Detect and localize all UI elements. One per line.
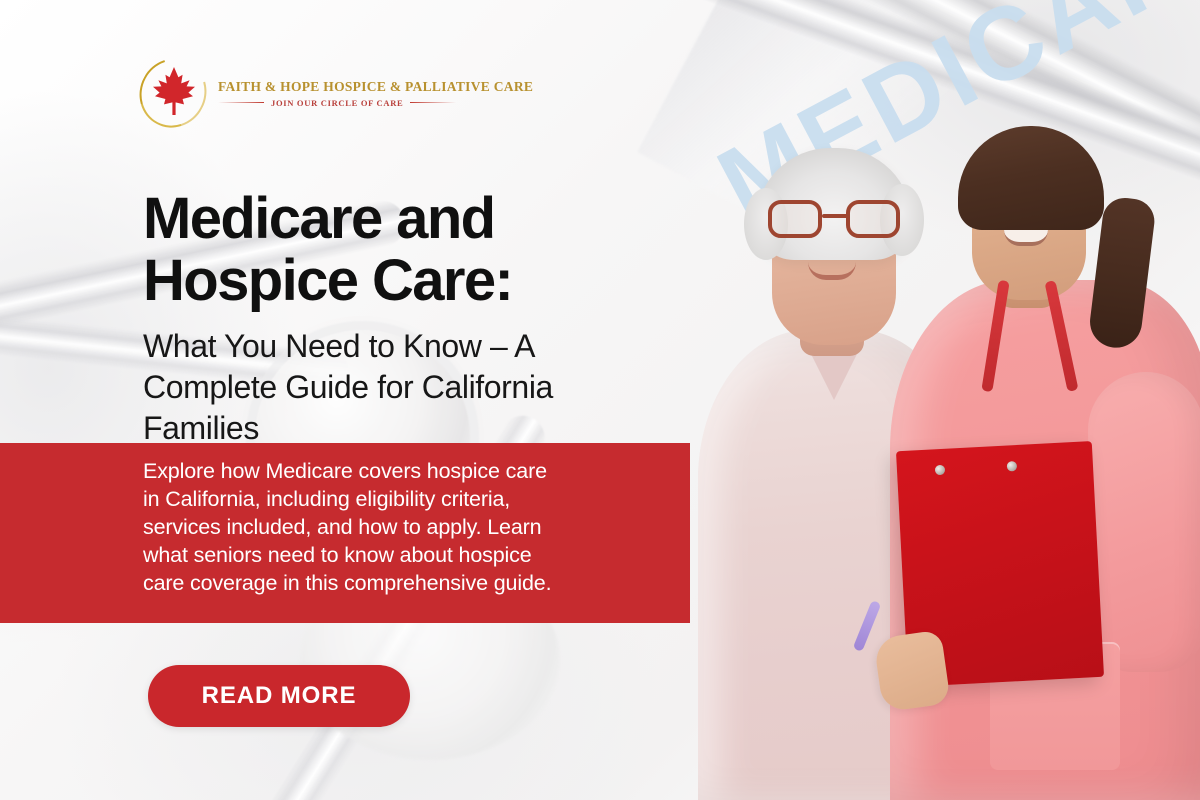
eyeglass-lens-left bbox=[768, 200, 822, 238]
logo-text-block: FAITH & HOPE HOSPICE & PALLIATIVE CARE J… bbox=[218, 79, 533, 108]
nurse-hand bbox=[873, 630, 951, 713]
brand-name: FAITH & HOPE HOSPICE & PALLIATIVE CARE bbox=[218, 79, 533, 95]
page-subtitle: What You Need to Know – A Complete Guide… bbox=[143, 326, 623, 449]
clipboard-rivet-left bbox=[935, 465, 946, 476]
maple-leaf-icon bbox=[152, 66, 196, 116]
page-title-line2: Hospice Care: bbox=[143, 248, 512, 313]
clipboard-rivet-right bbox=[1007, 461, 1018, 472]
people-photo-group bbox=[640, 140, 1200, 800]
nurse-sleeve bbox=[1088, 372, 1200, 672]
brand-tagline-row: JOIN OUR CIRCLE OF CARE bbox=[218, 98, 533, 108]
brand-logo[interactable]: FAITH & HOPE HOSPICE & PALLIATIVE CARE J… bbox=[140, 58, 533, 128]
tagline-rule-right bbox=[410, 102, 456, 104]
nurse-figure bbox=[880, 100, 1200, 800]
page-title-line1: Medicare and bbox=[143, 186, 495, 251]
hero-banner: MEDICARE bbox=[0, 0, 1200, 800]
nurse-hair bbox=[958, 126, 1104, 230]
tagline-rule-left bbox=[218, 102, 264, 104]
eyeglass-bridge bbox=[822, 214, 848, 218]
page-title: Medicare andHospice Care: bbox=[143, 188, 623, 312]
read-more-button[interactable]: READ MORE bbox=[148, 665, 410, 727]
description-text: Explore how Medicare covers hospice care… bbox=[143, 457, 558, 597]
headline-block: Medicare andHospice Care: What You Need … bbox=[143, 188, 623, 449]
brand-tagline: JOIN OUR CIRCLE OF CARE bbox=[271, 98, 403, 108]
logo-mark bbox=[140, 58, 206, 128]
description-band: Explore how Medicare covers hospice care… bbox=[0, 443, 690, 623]
